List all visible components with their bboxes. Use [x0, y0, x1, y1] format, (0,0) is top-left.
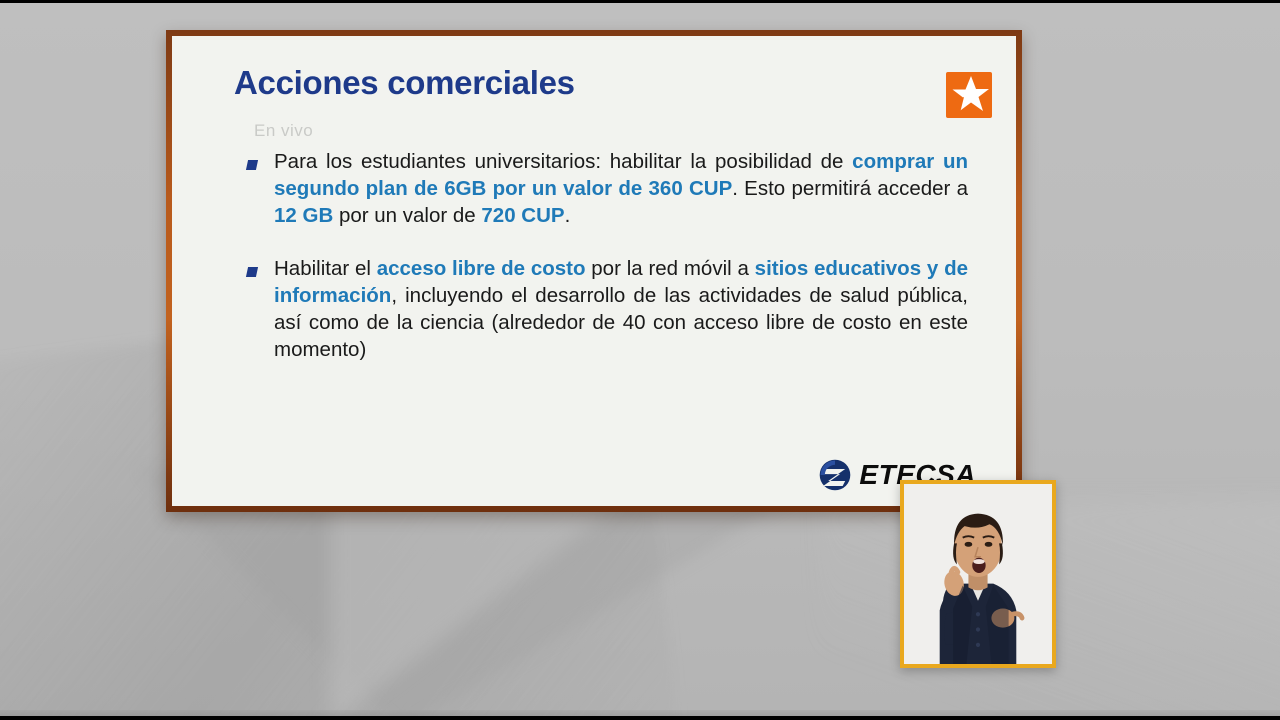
presentation-slide: Acciones comerciales En vivo Para los es…	[172, 36, 1016, 506]
bullet-text-acceso-libre: Habilitar el acceso libre de costo por l…	[274, 255, 968, 363]
live-watermark: En vivo	[254, 121, 313, 141]
broadcast-screen: Acciones comerciales En vivo Para los es…	[0, 0, 1280, 720]
star-logo	[946, 72, 992, 118]
list-item: Habilitar el acceso libre de costo por l…	[244, 255, 968, 363]
list-item: Para los estudiantes universitarios: hab…	[244, 148, 968, 229]
sign-language-interpreter-frame	[900, 480, 1056, 668]
letterbox-bottom	[0, 716, 1280, 720]
presentation-slide-frame: Acciones comerciales En vivo Para los es…	[166, 30, 1022, 512]
background-shadow-wedge-secondary	[330, 495, 630, 720]
bullet-marker-icon	[246, 160, 258, 170]
bullet-text-universitarios: Para los estudiantes universitarios: hab…	[274, 148, 968, 229]
page-title: Acciones comerciales	[234, 64, 575, 102]
etecsa-mark-icon	[818, 458, 852, 492]
sign-language-interpreter-video	[904, 484, 1052, 664]
letterbox-top	[0, 0, 1280, 3]
bullet-marker-icon	[246, 267, 258, 277]
slide-bullet-list: Para los estudiantes universitarios: hab…	[244, 148, 968, 389]
